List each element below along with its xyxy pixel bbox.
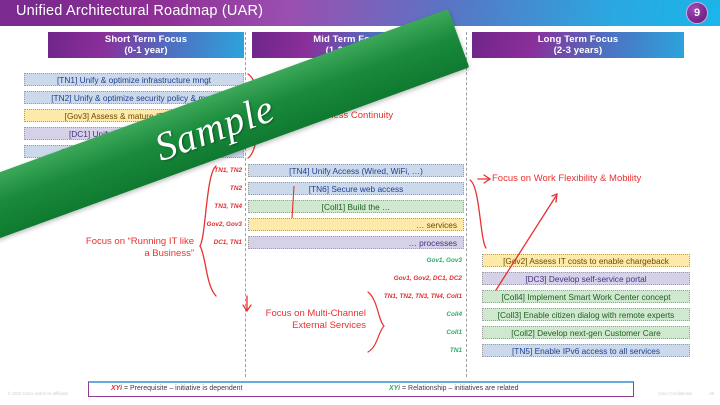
initiative-row[interactable]: [Gov2] Assess IT costs to enable chargeb… bbox=[482, 254, 690, 267]
dependency-tag: Coll4 bbox=[390, 311, 462, 318]
slide-canvas: Unified Architectural Roadmap (UAR) 9 Sh… bbox=[0, 0, 720, 405]
initiative-row[interactable]: [TN1] Unify & optimize infrastructure mn… bbox=[24, 73, 244, 86]
legend-prerequisite: XYi = Prerequisite – initiative is depen… bbox=[111, 385, 242, 392]
callout-running-it-line1: Focus on “Running IT like bbox=[86, 236, 194, 247]
legend-bar: XYi = Prerequisite – initiative is depen… bbox=[88, 381, 634, 397]
initiative-row[interactable]: [Coll4] Implement Smart Work Center conc… bbox=[482, 290, 690, 303]
dependency-tag: TN2 bbox=[170, 185, 242, 192]
initiative-row[interactable]: [Coll3] Enable citizen dialog with remot… bbox=[482, 308, 690, 321]
legend-prerequisite-key: XYi bbox=[111, 385, 122, 392]
initiative-row[interactable]: [Coll2] Develop next-gen Customer Care bbox=[482, 326, 690, 339]
dependency-tag: TN3, TN4 bbox=[170, 203, 242, 210]
page-number-badge: 9 bbox=[686, 2, 708, 24]
legend-relationship: XYi = Relationship – initiatives are rel… bbox=[389, 385, 519, 392]
legend-relationship-key: XYi bbox=[389, 385, 400, 392]
divider-mid-long bbox=[466, 32, 467, 377]
callout-running-it: Focus on “Running IT like a Business” bbox=[30, 236, 194, 260]
footer-page-number: 45 bbox=[709, 391, 714, 396]
column-title-long-term: Long Term Focus bbox=[472, 34, 684, 45]
callout-multi-channel: Focus on Multi-Channel External Services bbox=[214, 308, 366, 332]
confidential-note: Cisco Confidential bbox=[658, 391, 692, 396]
dependency-tag: TN1 bbox=[390, 347, 462, 354]
column-range-long-term: (2-3 years) bbox=[472, 45, 684, 56]
dependency-tag: TN1, TN2, TN3, TN4, Coll1 bbox=[336, 293, 462, 300]
copyright-note: © 2010 Cisco and/or its affiliates. bbox=[8, 391, 69, 396]
dependency-tag: Coll1 bbox=[390, 329, 462, 336]
dependency-tag: Gov1, Gov3 bbox=[372, 257, 462, 264]
initiative-row[interactable]: … processes bbox=[248, 236, 464, 249]
callout-multi-channel-line1: Focus on Multi-Channel bbox=[266, 308, 366, 319]
column-header-short-term: Short Term Focus (0-1 year) bbox=[48, 32, 244, 58]
callout-work-flexibility: Focus on Work Flexibility & Mobility bbox=[492, 173, 641, 185]
page-title: Unified Architectural Roadmap (UAR) bbox=[16, 3, 263, 19]
legend-relationship-text: = Relationship – initiatives are related bbox=[402, 385, 519, 392]
initiative-row[interactable]: [TN4] Unify Access (Wired, WiFi, …) bbox=[248, 164, 464, 177]
column-title-short-term: Short Term Focus bbox=[48, 34, 244, 45]
callout-multi-channel-line2: External Services bbox=[292, 320, 366, 331]
initiative-row[interactable]: [TN5] Enable IPv6 access to all services bbox=[482, 344, 690, 357]
initiative-row[interactable]: … services bbox=[248, 218, 464, 231]
column-range-short-term: (0-1 year) bbox=[48, 45, 244, 56]
legend-prerequisite-text: = Prerequisite – initiative is dependent bbox=[124, 385, 243, 392]
initiative-row[interactable]: [Coll1] Build the … bbox=[248, 200, 464, 213]
callout-running-it-line2: a Business” bbox=[144, 248, 194, 259]
dependency-tag: Gov1, Gov2, DC1, DC2 bbox=[352, 275, 462, 282]
dependency-tag: Gov2, Gov3 bbox=[170, 221, 242, 228]
initiative-row[interactable]: [TN6] Secure web access bbox=[248, 182, 464, 195]
column-header-long-term: Long Term Focus (2-3 years) bbox=[472, 32, 684, 58]
initiative-row[interactable]: [DC3] Develop self-service portal bbox=[482, 272, 690, 285]
slide-header-bar: Unified Architectural Roadmap (UAR) bbox=[0, 0, 720, 26]
